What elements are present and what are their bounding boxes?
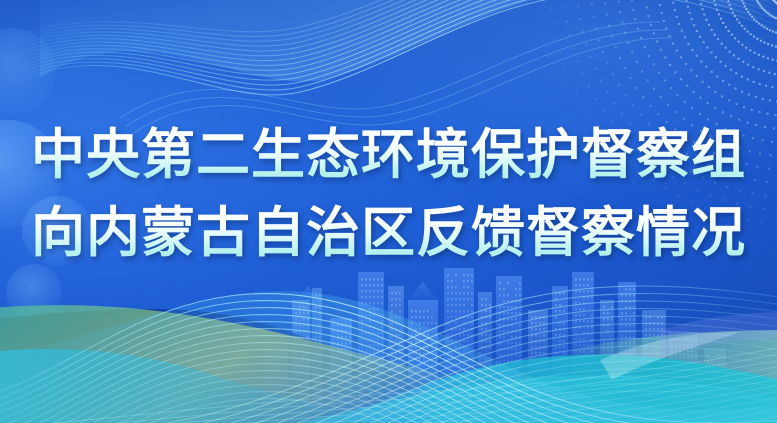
news-banner: 中央第二生态环境保护督察组 向内蒙古自治区反馈督察情况 <box>0 0 777 423</box>
bottom-ribbon-waves <box>0 0 777 423</box>
